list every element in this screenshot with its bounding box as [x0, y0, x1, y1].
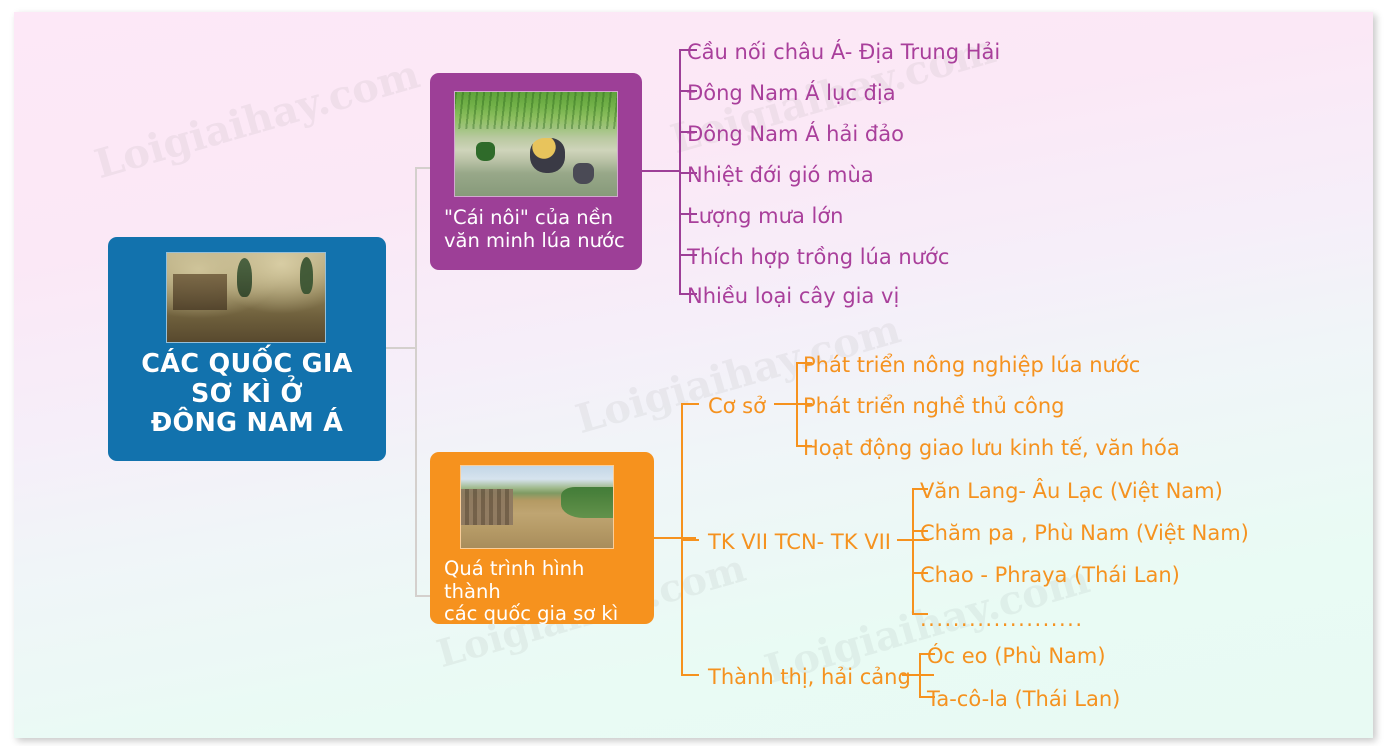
- root-node-image: [166, 252, 326, 343]
- purple-node-image: [454, 91, 618, 197]
- orange-node-caption: Quá trình hình thành các quốc gia sơ kì: [430, 558, 654, 626]
- orange-group-label[interactable]: TK VII TCN- TK VII: [708, 532, 891, 553]
- purple-item[interactable]: Đông Nam Á lục địa: [687, 83, 896, 104]
- root-node-caption-line2: SƠ KÌ Ở: [114, 380, 380, 410]
- orange-item[interactable]: Hoạt động giao lưu kinh tế, văn hóa: [803, 438, 1180, 459]
- root-node-caption-line1: CÁC QUỐC GIA: [114, 350, 380, 380]
- root-node-caption-line3: ĐÔNG NAM Á: [114, 409, 380, 439]
- branch-node-purple[interactable]: "Cái nôi" của nền văn minh lúa nước: [430, 73, 642, 270]
- watermark: Loigiaihay.com: [90, 51, 425, 189]
- root-node-caption: CÁC QUỐC GIA SƠ KÌ Ở ĐÔNG NAM Á: [108, 350, 386, 439]
- connector-group3-stub: [902, 674, 934, 676]
- branch-node-orange[interactable]: Quá trình hình thành các quốc gia sơ kì: [430, 452, 654, 624]
- orange-item[interactable]: Chao - Phraya (Thái Lan): [920, 565, 1180, 586]
- connector-orange-group-tick: [681, 674, 699, 676]
- orange-group-label[interactable]: Cơ sở: [708, 396, 766, 417]
- orange-item[interactable]: Văn Lang- Âu Lạc (Việt Nam): [920, 481, 1223, 502]
- purple-node-caption-line1: "Cái nôi" của nền: [444, 207, 634, 230]
- purple-item[interactable]: Nhiệt đới gió mùa: [687, 165, 874, 186]
- orange-item-ellipsis[interactable]: ....................: [920, 607, 1084, 631]
- orange-node-image: [460, 465, 614, 549]
- orange-item[interactable]: Phát triển nghề thủ công: [803, 396, 1064, 417]
- purple-item[interactable]: Thích hợp trồng lúa nước: [687, 247, 949, 268]
- orange-node-caption-line1: Quá trình hình thành: [444, 558, 646, 603]
- orange-item[interactable]: Phát triển nông nghiệp lúa nước: [803, 355, 1140, 376]
- connector-group3-spine: [919, 653, 921, 696]
- orange-item[interactable]: Chăm pa , Phù Nam (Việt Nam): [920, 523, 1249, 544]
- purple-node-caption-line2: văn minh lúa nước: [444, 230, 634, 253]
- purple-item[interactable]: Nhiều loại cây gia vị: [687, 286, 899, 307]
- orange-item[interactable]: Ta-cô-la (Thái Lan): [927, 689, 1120, 710]
- connector-orange-group-tick: [681, 539, 699, 541]
- root-node[interactable]: CÁC QUỐC GIA SƠ KÌ Ở ĐÔNG NAM Á: [108, 237, 386, 461]
- connector-purple-stub: [642, 170, 680, 172]
- orange-node-caption-line2: các quốc gia sơ kì: [444, 603, 646, 626]
- connector-root-stub: [386, 347, 416, 349]
- connector-group2-spine: [912, 488, 914, 614]
- connector-root-spine: [415, 167, 417, 597]
- orange-item[interactable]: Óc eo (Phù Nam): [927, 646, 1106, 667]
- purple-item[interactable]: Lượng mưa lớn: [687, 206, 843, 227]
- orange-group-label[interactable]: Thành thị, hải cảng: [708, 667, 911, 688]
- connector-purple-spine: [679, 49, 681, 293]
- purple-item[interactable]: Cầu nối châu Á- Địa Trung Hải: [687, 42, 1000, 63]
- purple-item[interactable]: Đông Nam Á hải đảo: [687, 124, 904, 145]
- purple-node-caption: "Cái nôi" của nền văn minh lúa nước: [430, 207, 642, 252]
- connector-orange-group-tick: [681, 403, 699, 405]
- mindmap-canvas: Loigiaihay.com Loigiaihay.com Loigiaihay…: [14, 12, 1373, 738]
